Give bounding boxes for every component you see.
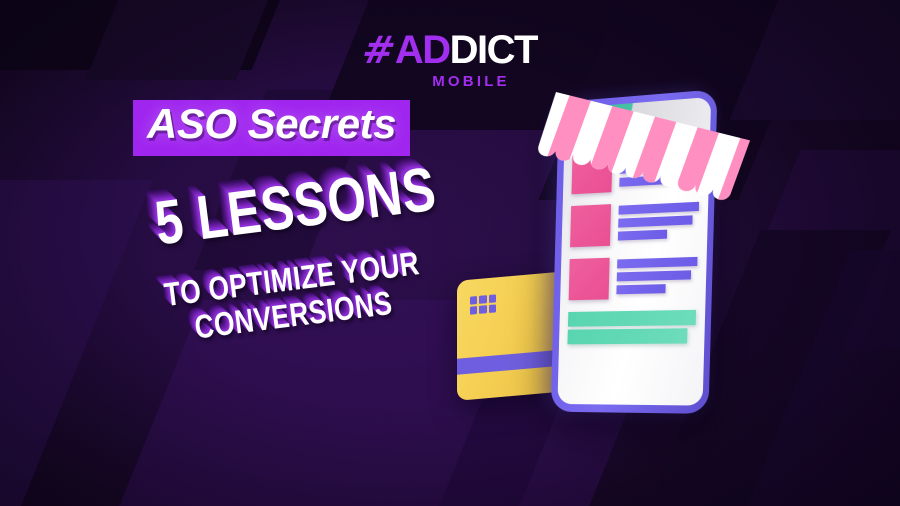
cta-group xyxy=(567,310,696,344)
chip-cell xyxy=(470,306,477,315)
brand-name-ad: AD xyxy=(395,30,450,70)
text-line xyxy=(619,202,700,215)
card-magnetic-stripe xyxy=(457,349,567,375)
item-thumbnail xyxy=(569,258,610,301)
screen-content xyxy=(557,144,709,406)
item-text-lines xyxy=(616,255,697,299)
text-line xyxy=(620,147,701,161)
item-thumbnail xyxy=(571,150,612,194)
chip-cell xyxy=(489,294,496,303)
hash-icon: # xyxy=(359,31,398,69)
chip-cell xyxy=(489,304,496,313)
list-item xyxy=(569,255,698,300)
brand-logo-wordmark: #ADDICT xyxy=(360,30,540,70)
phone-mockup xyxy=(551,89,718,414)
eyebrow-banner: ASO Secrets xyxy=(133,100,410,156)
chip-cell xyxy=(479,295,486,304)
phone-screen xyxy=(557,97,711,406)
bg-shape-light-left xyxy=(0,180,153,506)
screen-header-bar xyxy=(564,97,711,146)
text-line xyxy=(619,175,669,187)
item-text-lines xyxy=(618,200,699,246)
brand-logo: #ADDICT MOBILE xyxy=(360,30,540,90)
item-thumbnail xyxy=(570,204,611,247)
brand-name-dict: DICT xyxy=(450,30,537,70)
eyebrow-band: ASO Secrets xyxy=(133,100,410,156)
text-line xyxy=(617,257,697,269)
list-item xyxy=(571,145,700,195)
text-line xyxy=(620,160,694,174)
text-line xyxy=(617,270,691,281)
text-line xyxy=(618,215,692,227)
chip-cell xyxy=(479,305,486,314)
brand-tagline: MOBILE xyxy=(402,73,540,90)
text-line xyxy=(618,230,668,241)
cta-bar xyxy=(567,328,687,344)
text-line xyxy=(616,284,666,294)
cta-bar xyxy=(568,310,696,327)
eyebrow-text: ASO Secrets xyxy=(147,103,396,145)
card-chip-icon xyxy=(470,294,496,314)
item-text-lines xyxy=(619,145,701,192)
chip-cell xyxy=(470,296,477,305)
list-item xyxy=(570,200,699,248)
promo-banner: #ADDICT MOBILE ASO Secrets 5 LESSONS TO … xyxy=(0,0,900,506)
